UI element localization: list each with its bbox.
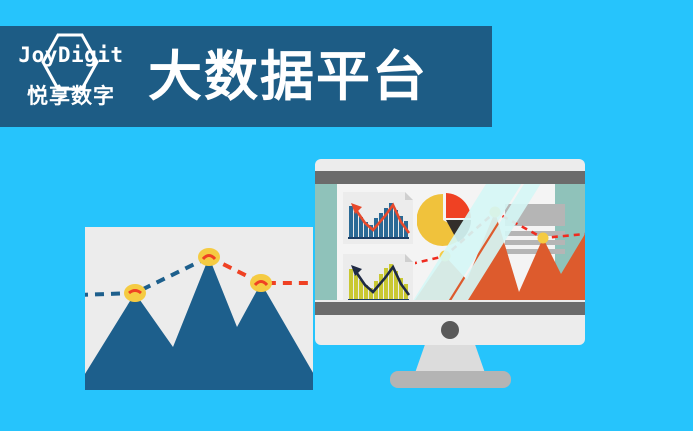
monitor-body	[315, 159, 585, 345]
monitor-screen	[315, 184, 585, 300]
card-bar-chart-yellow[interactable]	[343, 254, 413, 300]
monitor-bezel-bottom	[315, 302, 585, 315]
data-node	[124, 284, 146, 302]
monitor-bezel-top	[315, 171, 585, 184]
monitor-stand-base	[390, 371, 511, 388]
screen-side-panel-left	[315, 184, 337, 300]
blue-mountain-area-chart	[85, 227, 313, 390]
page-title: 大数据平台	[148, 50, 428, 104]
brand-wordmark: JoyDigit	[12, 45, 130, 66]
brand-wordmark-cn: 悦享数字	[12, 85, 130, 109]
card-bar-chart-blue[interactable]	[343, 192, 413, 244]
power-button-icon[interactable]	[441, 321, 459, 339]
data-node	[538, 233, 549, 244]
header-banner: JoyDigit 悦享数字 大数据平台	[0, 26, 492, 127]
mountain-shape-blue	[85, 257, 313, 390]
poster-canvas: JoyDigit 悦享数字 大数据平台	[0, 0, 693, 431]
trend-line-blue	[85, 257, 209, 295]
monitor-stand-neck	[415, 345, 485, 373]
brand-logo: JoyDigit 悦享数字	[12, 29, 130, 125]
left-illustration-panel	[85, 227, 313, 390]
